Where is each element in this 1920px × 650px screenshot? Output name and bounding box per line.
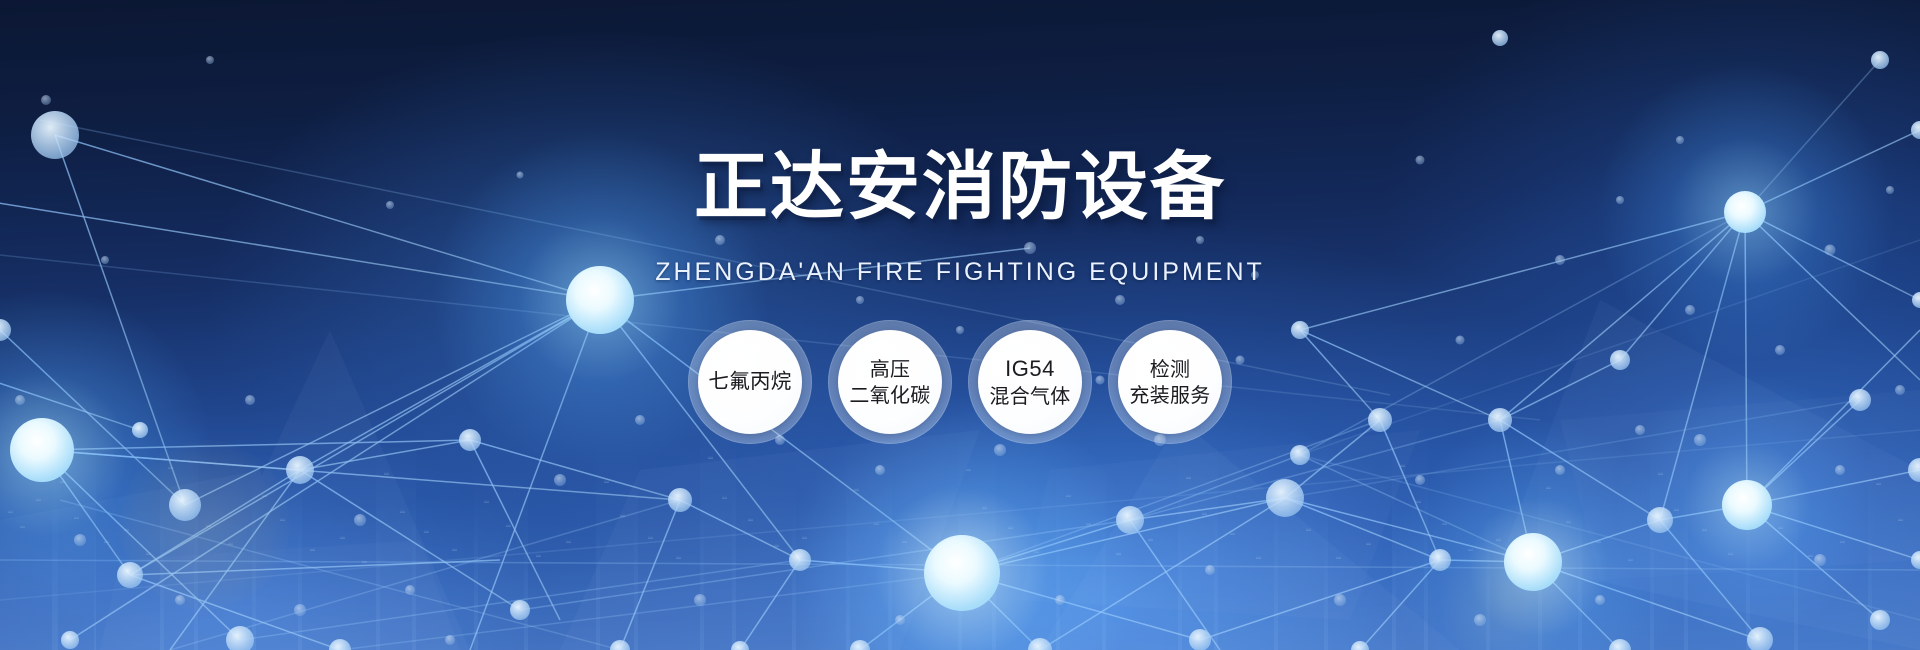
feature-badge-disc: IG54混合气体 [978,330,1082,434]
feature-badge-row: 七氟丙烷高压二氧化碳IG54混合气体检测充装服务 [0,320,1920,444]
feature-badge-disc: 检测充装服务 [1118,330,1222,434]
feature-badge-ig54-mixed-gas[interactable]: IG54混合气体 [968,320,1092,444]
page-title: 正达安消防设备 [694,150,1226,224]
feature-badge-disc: 七氟丙烷 [698,330,802,434]
feature-badge-label: 混合气体 [989,383,1070,409]
feature-badge-label: 二氧化碳 [849,382,930,408]
feature-badge-label: 检测 [1150,356,1191,382]
feature-badge-heptafluoropropane[interactable]: 七氟丙烷 [688,320,812,444]
feature-badge-high-pressure-co2[interactable]: 高压二氧化碳 [828,320,952,444]
feature-badge-label: 充装服务 [1129,382,1210,408]
title-container: 正达安消防设备 [0,150,1920,224]
feature-badge-disc: 高压二氧化碳 [838,330,942,434]
feature-badge-inspection-filling-service[interactable]: 检测充装服务 [1108,320,1232,444]
hero-banner: 正达安消防设备 ZHENGDA'AN FIRE FIGHTING EQUIPME… [0,0,1920,650]
subtitle-container: ZHENGDA'AN FIRE FIGHTING EQUIPMENT [0,258,1920,287]
feature-badge-label: IG54 [1005,354,1055,383]
page-subtitle: ZHENGDA'AN FIRE FIGHTING EQUIPMENT [655,258,1265,287]
feature-badge-label: 七氟丙烷 [708,368,791,395]
feature-badge-label: 高压 [870,356,911,382]
